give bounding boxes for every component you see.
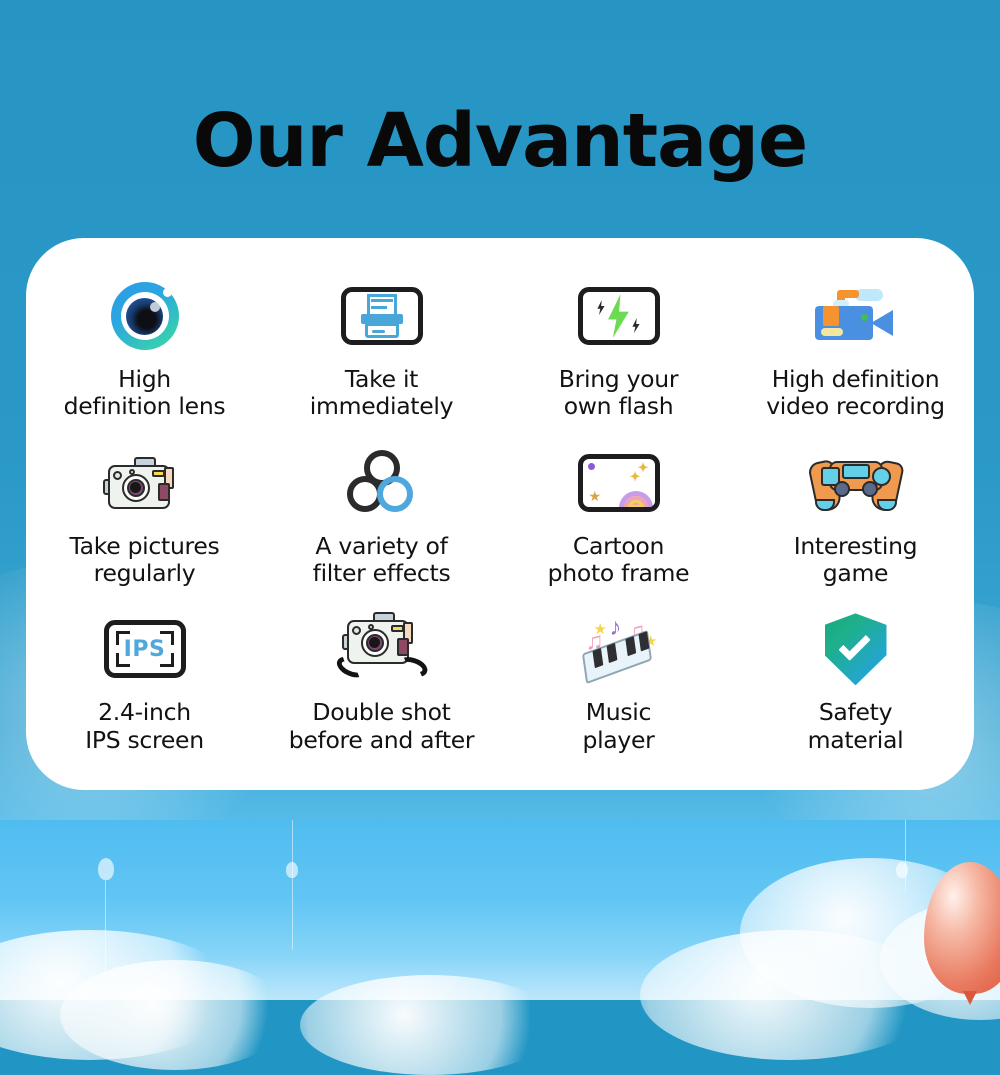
photo-frame-icon: ✦ ✦ ★ (571, 445, 667, 521)
features-card: High definition lens Take it immediately (26, 238, 974, 790)
retro-camera-icon (97, 445, 193, 521)
feature-item-music-player[interactable]: ♪ ♫ ♫ ★ ★ ★ Music player (500, 607, 737, 774)
music-star-icon-1: ★ (594, 622, 607, 637)
feature-item-filter-effects[interactable]: A variety of filter effects (263, 441, 500, 608)
feature-item-safety-material[interactable]: Safety material (737, 607, 974, 774)
feature-label: Double shot before and after (289, 699, 475, 754)
feature-item-take-it-immediately[interactable]: Take it immediately (263, 274, 500, 441)
ips-screen-icon: IPS (97, 611, 193, 687)
frame-sparkle-icon-2: ✦ (630, 470, 641, 483)
feature-item-ips-screen[interactable]: IPS 2.4-inch IPS screen (26, 607, 263, 774)
double-shot-camera-icon (334, 611, 430, 687)
feature-item-cartoon-photo-frame[interactable]: ✦ ✦ ★ Cartoon photo frame (500, 441, 737, 608)
music-note-purple-icon: ♪ (610, 616, 622, 640)
feature-item-interesting-game[interactable]: Interesting game (737, 441, 974, 608)
feature-item-take-pictures-regularly[interactable]: Take pictures regularly (26, 441, 263, 608)
feature-label: High definition video recording (766, 366, 945, 421)
frame-star-icon: ★ (589, 489, 602, 503)
feature-item-bring-your-own-flash[interactable]: Bring your own flash (500, 274, 737, 441)
feature-label: Take it immediately (310, 366, 453, 421)
feature-label: Take pictures regularly (70, 533, 220, 588)
feature-label: Interesting game (794, 533, 918, 588)
camera-lens-icon (97, 278, 193, 354)
instant-printer-icon (334, 278, 430, 354)
feature-label: Safety material (808, 699, 904, 754)
rotate-arrow-right-icon (395, 654, 429, 681)
feature-label: 2.4-inch IPS screen (85, 699, 204, 754)
feature-label: Cartoon photo frame (548, 533, 690, 588)
safety-shield-icon (808, 611, 904, 687)
sky-background-bottom (0, 820, 1000, 1000)
feature-label: Music player (582, 699, 654, 754)
feature-item-double-shot[interactable]: Double shot before and after (263, 607, 500, 774)
page-title: Our Advantage (0, 104, 1000, 178)
features-grid: High definition lens Take it immediately (26, 274, 974, 774)
game-controller-icon (808, 445, 904, 521)
feature-item-high-definition-lens[interactable]: High definition lens (26, 274, 263, 441)
filter-circles-icon (334, 445, 430, 521)
video-camcorder-icon (808, 278, 904, 354)
checkmark-icon (838, 629, 871, 662)
piano-music-icon: ♪ ♫ ♫ ★ ★ ★ (571, 611, 667, 687)
feature-label: High definition lens (64, 366, 226, 421)
feature-label: A variety of filter effects (313, 533, 451, 588)
feature-item-video-recording[interactable]: High definition video recording (737, 274, 974, 441)
flash-lightning-icon (571, 278, 667, 354)
feature-label: Bring your own flash (559, 366, 678, 421)
